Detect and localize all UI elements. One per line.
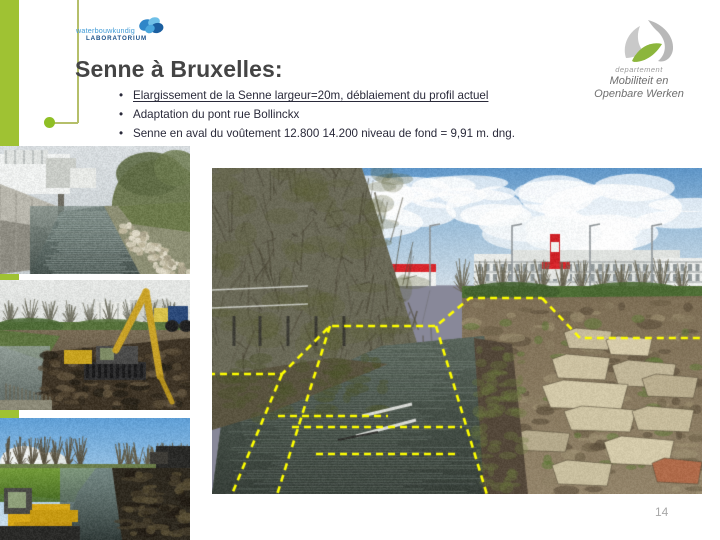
slide: waterbouwkundig LABORATORIUM departement…	[0, 0, 720, 540]
bullet-marker-icon: •	[119, 86, 123, 105]
bullet-item-2: •Adaptation du pont rue Bollinckx	[118, 105, 638, 124]
page-title: Senne à Bruxelles:	[75, 56, 283, 83]
waterbouwkundig-laboratorium-logo: waterbouwkundig LABORATORIUM	[76, 16, 166, 46]
photo-excavator-embankment	[0, 280, 190, 410]
bullet-item-1-text: Elargissement de la Senne largeur=20m, d…	[133, 89, 488, 102]
bullet-item-3: •Senne en aval du voûtement 12.800 14.20…	[118, 124, 638, 143]
swoosh-triangle-icon	[618, 18, 678, 66]
bullet-item-2-text: Adaptation du pont rue Bollinckx	[133, 108, 299, 121]
logo-left-word: waterbouwkundig	[76, 26, 135, 35]
bullet-item-3-text: Senne en aval du voûtement 12.800 14.200…	[133, 127, 515, 140]
photo-widened-channel	[0, 418, 190, 540]
photo-senne-narrow-channel	[0, 146, 190, 274]
bullet-marker-icon: •	[119, 124, 123, 143]
decorative-dot	[44, 117, 55, 128]
page-number: 14	[655, 505, 668, 519]
logo-right-departement: departement	[578, 65, 700, 74]
logo-left-subword: LABORATORIUM	[86, 35, 147, 42]
bullet-marker-icon: •	[119, 105, 123, 124]
photo-main-profile-overlay	[212, 168, 702, 494]
bullet-list: •Elargissement de la Senne largeur=20m, …	[118, 86, 638, 143]
bullet-item-1: •Elargissement de la Senne largeur=20m, …	[118, 86, 638, 105]
